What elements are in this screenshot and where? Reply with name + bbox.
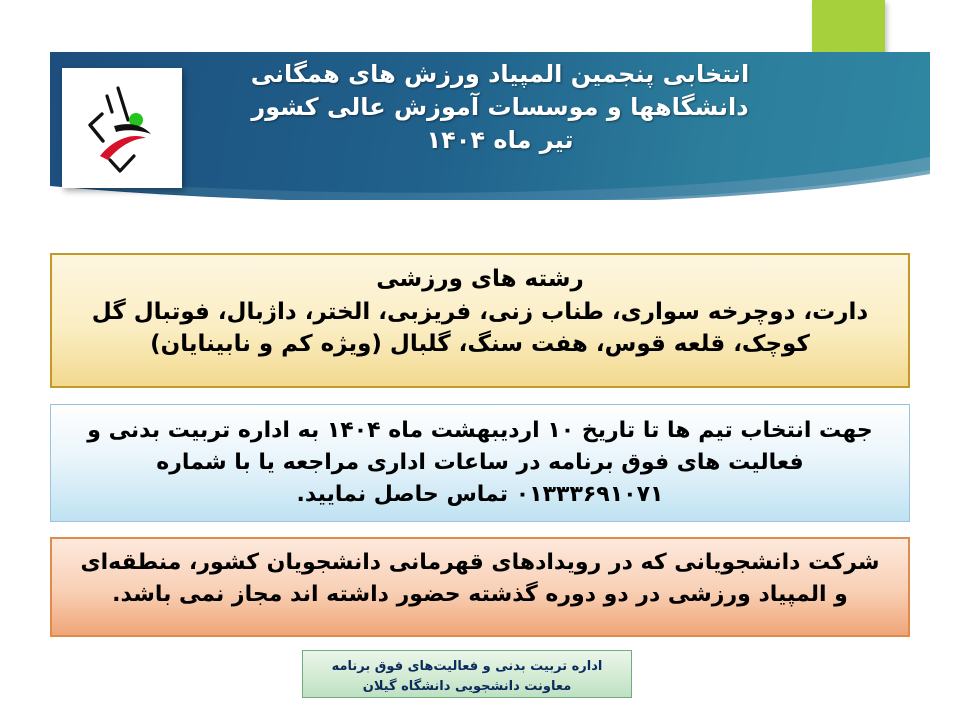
info-box-line-3: ۰۱۳۳۳۶۹۱۰۷۱ تماس حاصل نمایید. xyxy=(65,479,895,511)
poster-title: انتخابی پنجمین المپیاد ورزش های همگانی د… xyxy=(180,58,820,157)
info-box-line-1: جهت انتخاب تیم ها تا تاریخ ۱۰ اردیبهشت م… xyxy=(65,415,895,447)
poster-title-line-3: تیر ماه ۱۴۰۴ xyxy=(180,124,820,157)
sports-disciplines-box: رشته های ورزشی دارت، دوچرخه سواری، طناب … xyxy=(50,253,910,388)
sports-box-line-1: دارت، دوچرخه سواری، طناب زنی، فریزبی، ال… xyxy=(62,296,898,329)
eligibility-rule-box: شرکت دانشجویانی که در رویدادهای قهرمانی … xyxy=(50,537,910,637)
info-box-line-2: فعالیت های فوق برنامه در ساعات اداری مرا… xyxy=(65,447,895,479)
issuing-office-footer: اداره تربیت بدنی و فعالیت‌های فوق برنامه… xyxy=(302,650,632,698)
poster-title-line-1: انتخابی پنجمین المپیاد ورزش های همگانی xyxy=(180,58,820,91)
organization-logo xyxy=(62,68,182,188)
registration-info-box: جهت انتخاب تیم ها تا تاریخ ۱۰ اردیبهشت م… xyxy=(50,404,910,522)
rule-box-line-2: و المپیاد ورزشی در دو دوره گذشته حضور دا… xyxy=(66,579,894,611)
sports-box-line-2: کوچک، قلعه قوس، هفت سنگ، گلبال (ویژه کم … xyxy=(62,328,898,361)
athlete-logo-icon xyxy=(62,68,182,188)
rule-box-line-1: شرکت دانشجویانی که در رویدادهای قهرمانی … xyxy=(66,547,894,579)
footer-line-1: اداره تربیت بدنی و فعالیت‌های فوق برنامه xyxy=(303,657,631,677)
poster-title-line-2: دانشگاهها و موسسات آموزش عالی کشور xyxy=(180,91,820,124)
footer-line-2: معاونت دانشجویی دانشگاه گیلان xyxy=(303,677,631,697)
sports-box-title: رشته های ورزشی xyxy=(62,263,898,296)
poster-canvas: انتخابی پنجمین المپیاد ورزش های همگانی د… xyxy=(0,0,960,720)
